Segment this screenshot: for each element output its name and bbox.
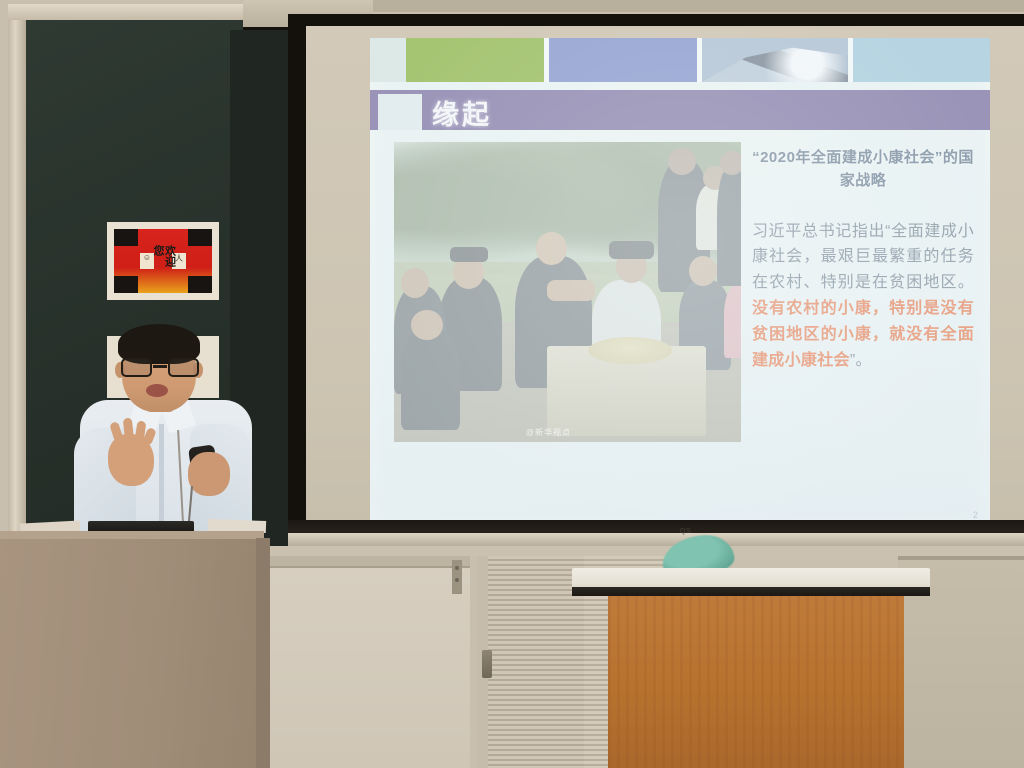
speaker-left-hand (108, 434, 154, 486)
decor-block-green (406, 38, 544, 82)
decor-block-road-photo (702, 38, 848, 82)
slide-photo: @新华视点 (394, 142, 741, 442)
lecture-room-scene: 缘起 (0, 0, 1024, 768)
lectern (0, 531, 264, 768)
slide-text-column: “2020年全面建成小康社会”的国家战略 习近平总书记指出“全面建成小康社会，最… (752, 146, 974, 374)
slide-decor-band (370, 38, 990, 82)
welcome-poster: ☺ 人 欢迎您 (107, 222, 219, 300)
slide-body-part-2: ”。 (850, 352, 872, 369)
right-wall-trim (898, 556, 1024, 560)
speaker-mouth (146, 384, 168, 397)
slide-body-part-1: 习近平总书记指出“全面建成小康社会，最艰巨最繁重的任务在农村、特别是在贫困地区。 (752, 223, 974, 292)
slide-number: 2 (973, 510, 978, 520)
glasses-bridge (153, 365, 167, 368)
podium-desk (600, 588, 900, 768)
chalkboard-frame-top (8, 4, 248, 20)
slide-title: 缘起 (432, 94, 492, 130)
podium-desktop-edge (572, 587, 930, 596)
lectern-side-panel (256, 538, 270, 768)
lectern-top-edge (0, 531, 264, 539)
slide-heading: “2020年全面建成小康社会”的国家战略 (752, 146, 974, 193)
screen-brand-label: QS (680, 528, 691, 535)
glasses-lens-right (168, 358, 199, 377)
glasses-icon (119, 358, 201, 377)
photo-watermark: @新华视点 (526, 427, 571, 438)
decor-block-pale (370, 38, 406, 82)
glasses-lens-left (121, 358, 152, 377)
chalkboard-frame-left (8, 8, 26, 578)
screen-bottom-rail (288, 533, 1024, 546)
photo-washout-overlay (394, 142, 741, 442)
welcome-poster-inner: ☺ 人 欢迎您 (114, 229, 212, 293)
cabinet-door-handle[interactable] (482, 650, 492, 678)
poster-text: 欢迎您 (151, 245, 174, 277)
slide-body: 习近平总书记指出“全面建成小康社会，最艰巨最繁重的任务在农村、特别是在贫困地区。… (752, 219, 974, 374)
poster-corner-top-right (188, 229, 212, 246)
speaker-right-hand (188, 452, 230, 496)
decor-block-blue (549, 38, 697, 82)
projected-slide: 缘起 (370, 38, 990, 530)
cabinet-door-left[interactable] (478, 556, 584, 768)
wall-panel (266, 568, 470, 768)
poster-corner-bottom-left (114, 276, 138, 293)
poster-corner-bottom-right (188, 276, 212, 293)
slide-title-notch (378, 94, 422, 130)
shelf-bracket (452, 560, 462, 594)
poster-corner-top-left (114, 229, 138, 246)
podium-desktop (572, 568, 930, 588)
decor-block-light-blue (853, 38, 990, 82)
podium-wood-front (608, 596, 904, 768)
wall-shelf (266, 556, 472, 568)
